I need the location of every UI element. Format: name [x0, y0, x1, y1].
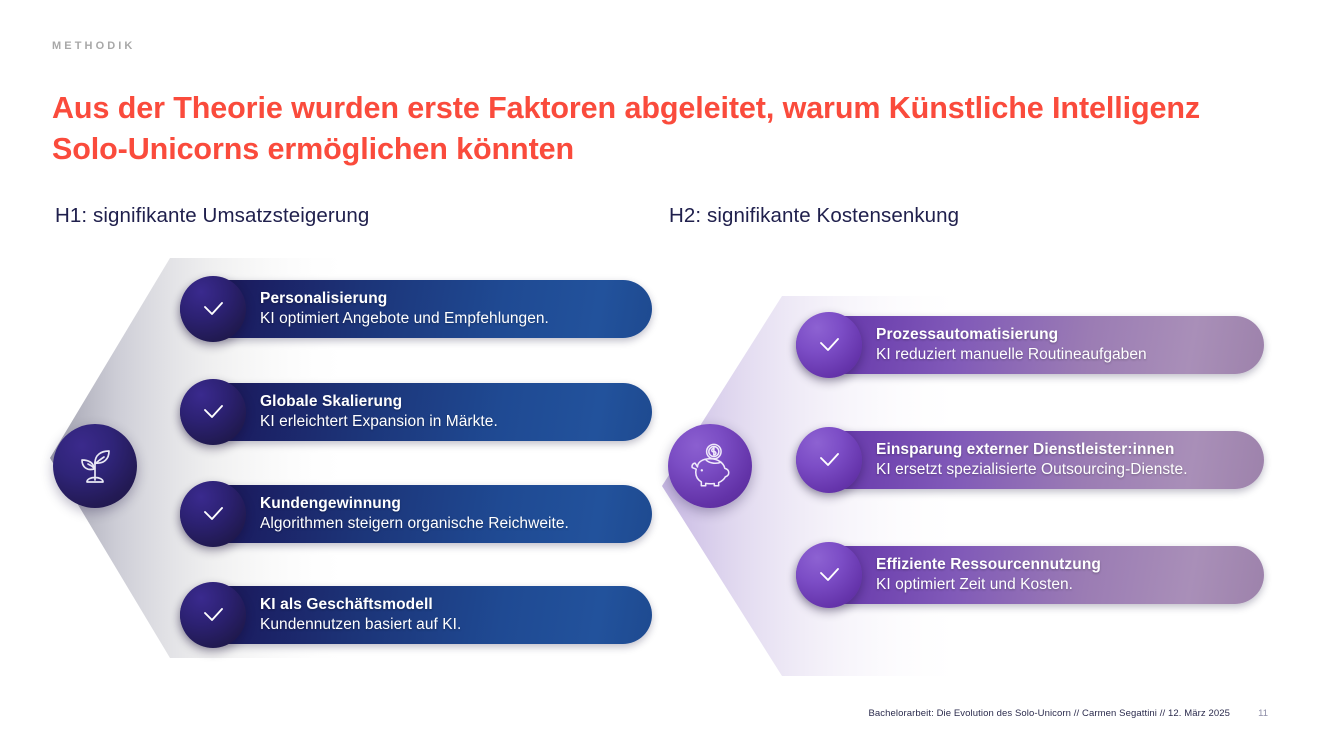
factor-pill[interactable]: Prozessautomatisierung KI reduziert manu… — [796, 316, 1264, 374]
piggy-bank-medallion — [668, 424, 752, 508]
factor-title: Globale Skalierung — [260, 393, 498, 412]
check-icon — [796, 427, 862, 493]
factor-subtitle: KI erleichtert Expansion in Märkte. — [260, 413, 498, 432]
factor-title: Prozessautomatisierung — [876, 326, 1147, 345]
factor-pill[interactable]: Personalisierung KI optimiert Angebote u… — [180, 280, 652, 338]
check-icon — [796, 312, 862, 378]
factor-pill[interactable]: Einsparung externer Dienstleister:innen … — [796, 431, 1264, 489]
check-icon — [796, 542, 862, 608]
factor-title: Personalisierung — [260, 290, 549, 309]
factor-subtitle: KI optimiert Zeit und Kosten. — [876, 576, 1101, 595]
factor-pill[interactable]: KI als Geschäftsmodell Kundennutzen basi… — [180, 586, 652, 644]
factor-subtitle: KI optimiert Angebote und Empfehlungen. — [260, 310, 549, 329]
check-icon — [180, 379, 246, 445]
sprout-icon — [71, 442, 119, 490]
slide-eyebrow-label: METHODIK — [52, 40, 135, 52]
check-icon — [180, 481, 246, 547]
factor-pill[interactable]: Globale Skalierung KI erleichtert Expans… — [180, 383, 652, 441]
column-heading-h1: H1: signifikante Umsatzsteigerung — [55, 204, 369, 228]
slide-footer-text: Bachelorarbeit: Die Evolution des Solo-U… — [868, 708, 1230, 719]
slide: METHODIK Aus der Theorie wurden erste Fa… — [0, 0, 1320, 751]
factor-pill[interactable]: Kundengewinnung Algorithmen steigern org… — [180, 485, 652, 543]
check-icon — [180, 276, 246, 342]
slide-page-number: 11 — [1258, 708, 1268, 719]
factor-subtitle: KI ersetzt spezialisierte Outsourcing-Di… — [876, 461, 1188, 480]
factor-title: Kundengewinnung — [260, 495, 569, 514]
factor-subtitle: Algorithmen steigern organische Reichwei… — [260, 515, 569, 534]
factor-subtitle: Kundennutzen basiert auf KI. — [260, 616, 461, 635]
check-icon — [180, 582, 246, 648]
factor-pill[interactable]: Effiziente Ressourcennutzung KI optimier… — [796, 546, 1264, 604]
slide-title: Aus der Theorie wurden erste Faktoren ab… — [52, 88, 1282, 169]
factor-title: Effiziente Ressourcennutzung — [876, 556, 1101, 575]
column-heading-h2: H2: signifikante Kostensenkung — [669, 204, 959, 228]
factor-title: Einsparung externer Dienstleister:innen — [876, 441, 1188, 460]
piggy-bank-icon — [685, 441, 735, 491]
sprout-medallion — [53, 424, 137, 508]
factor-title: KI als Geschäftsmodell — [260, 596, 461, 615]
factor-subtitle: KI reduziert manuelle Routineaufgaben — [876, 346, 1147, 365]
